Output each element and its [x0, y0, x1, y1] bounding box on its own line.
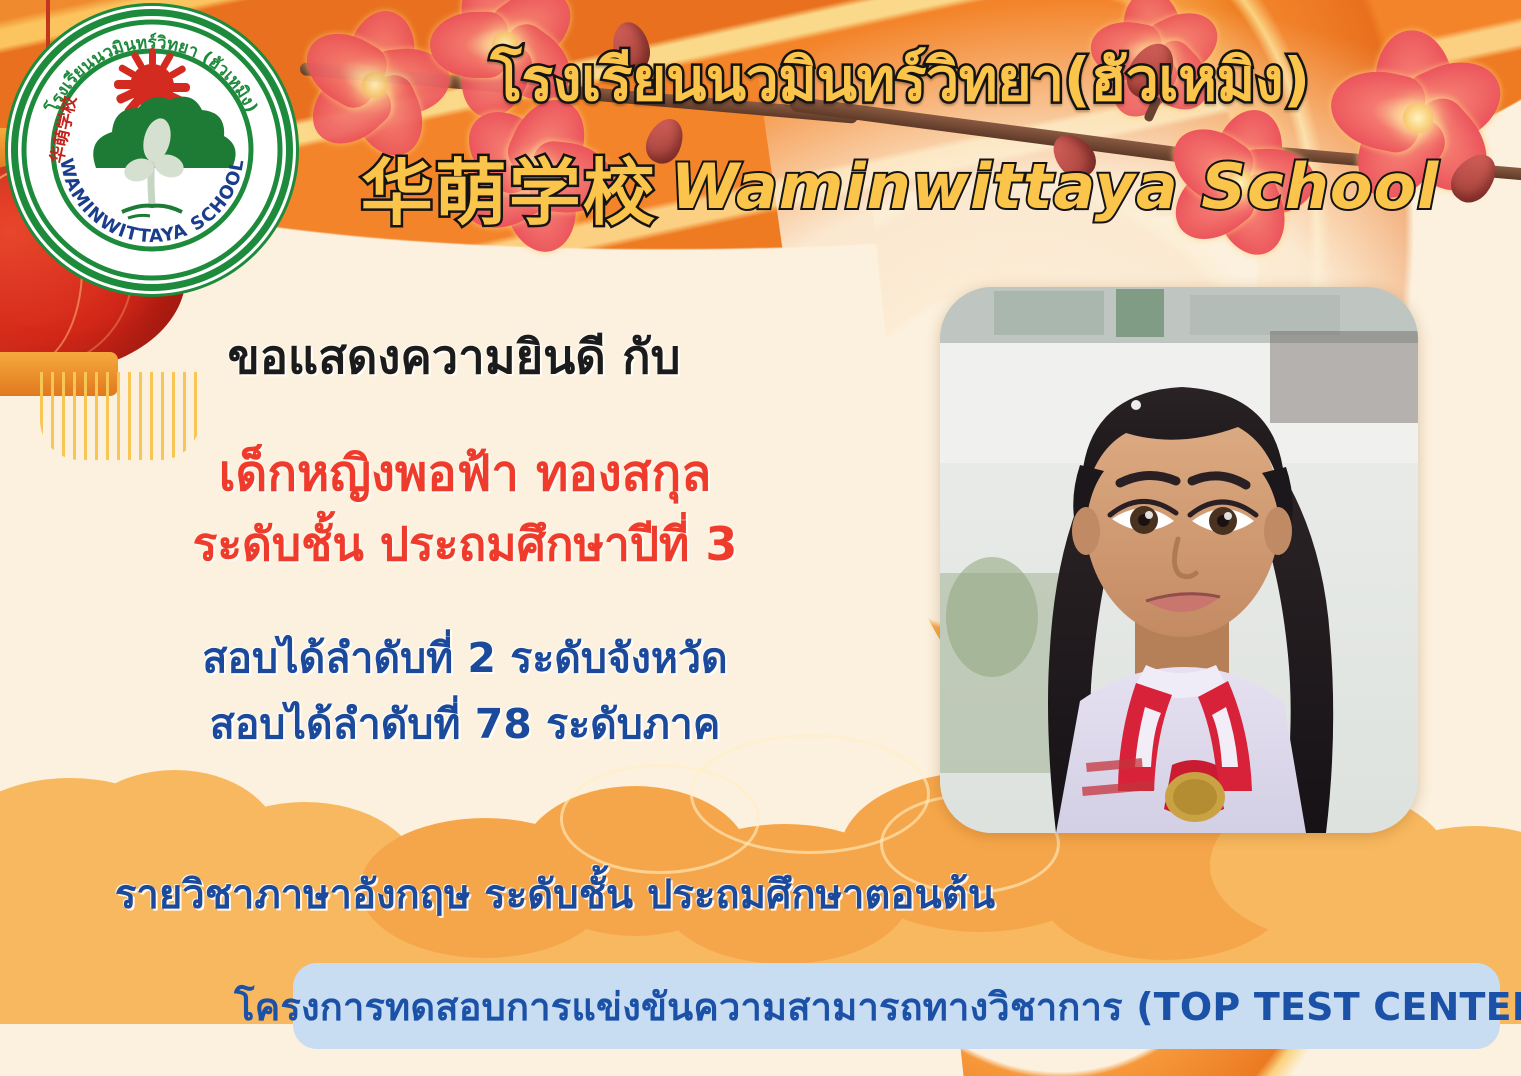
subject-level-text: รายวิชาภาษาอังกฤษ ระดับชั้น ประถมศึกษาตอ…	[0, 862, 1110, 926]
school-logo: โรงเรียนนวมินทร์วิทยา (ฮัวเหมิง) WAMINWI…	[18, 16, 286, 284]
grade-level-text: ระดับชั้น ประถมศึกษาปีที่ 3	[0, 517, 930, 571]
rank-province-text: สอบได้ลำดับที่ 2 ระดับจังหวัด	[0, 634, 930, 682]
rank-region-text: สอบได้ลำดับที่ 78 ระดับภาค	[0, 700, 930, 748]
school-name-row-secondary: 华萌学校 Waminwittaya School	[300, 134, 1500, 239]
student-portrait-photo: .	[940, 287, 1418, 833]
student-name-text: เด็กหญิงพอฟ้า ทองสกุล	[0, 445, 930, 503]
program-banner: โครงการทดสอบการแข่งขันความสามารถทางวิชาก…	[293, 963, 1500, 1049]
school-name-english: Waminwittaya School	[671, 150, 1440, 223]
school-name-thai: โรงเรียนนวมินทร์วิทยา(ฮัวเหมิง)	[300, 48, 1500, 112]
certificate-body: ขอแสดงความยินดี กับ เด็กหญิงพอฟ้า ทองสกุ…	[0, 330, 930, 748]
poster-header: โรงเรียนนวมินทร์วิทยา(ฮัวเหมิง) 华萌学校 Wam…	[300, 48, 1500, 239]
congratulations-text: ขอแสดงความยินดี กับ	[0, 330, 930, 385]
certificate-poster: โรงเรียนนวมินทร์วิทยา (ฮัวเหมิง) WAMINWI…	[0, 0, 1521, 1076]
school-name-chinese: 华萌学校	[361, 134, 657, 239]
program-banner-text: โครงการทดสอบการแข่งขันความสามารถทางวิชาก…	[234, 976, 1521, 1037]
